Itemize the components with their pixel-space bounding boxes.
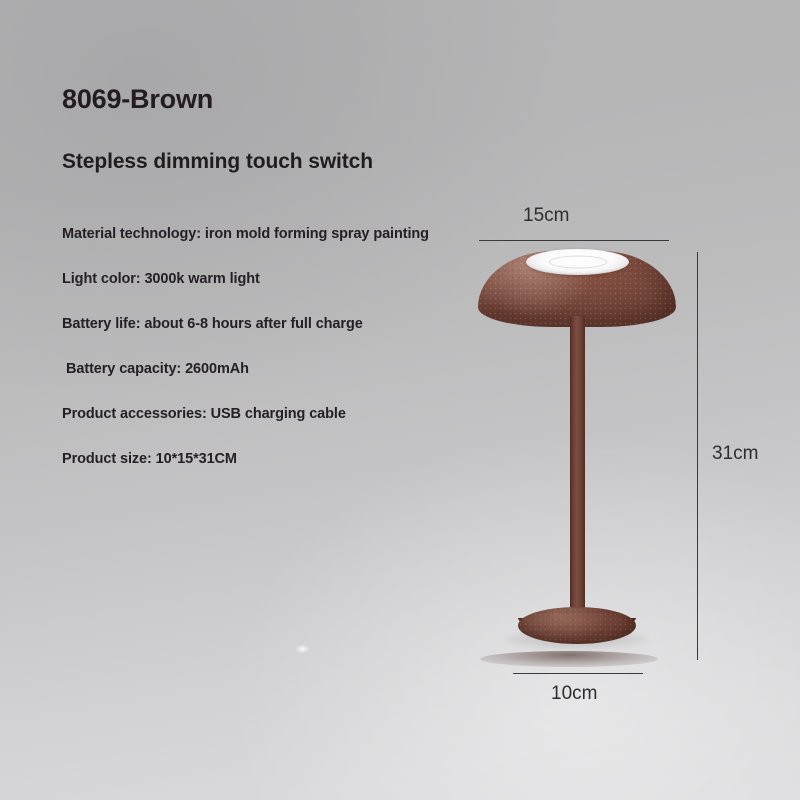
specification-list: Material technology: iron mold forming s… [0, 226, 470, 496]
spec-item-accessories: Product accessories: USB charging cable [0, 406, 470, 451]
lamp-base-disc [518, 607, 636, 644]
lamp-stem [570, 316, 585, 616]
product-subtitle: Stepless dimming touch switch [62, 150, 373, 174]
dimension-line-base-width [513, 673, 643, 674]
spec-item-battery-capacity: Battery capacity: 2600mAh [0, 361, 470, 406]
background-speck [296, 645, 309, 653]
lamp-product-photo [470, 240, 685, 665]
touch-switch-ring [549, 256, 607, 269]
product-spec-card: 8069-Brown Stepless dimming touch switch… [0, 0, 800, 800]
dimension-label-shade-width: 15cm [523, 205, 569, 227]
spec-item-battery-life: Battery life: about 6-8 hours after full… [0, 316, 470, 361]
dimension-label-total-height: 31cm [712, 443, 758, 465]
dimension-line-total-height [697, 252, 698, 660]
shade-bottom-rim-shadow [480, 651, 658, 667]
spec-item-light-color: Light color: 3000k warm light [0, 271, 470, 316]
spec-item-material: Material technology: iron mold forming s… [0, 226, 470, 271]
dimension-label-base-width: 10cm [551, 683, 597, 705]
base-texture-overlay [518, 607, 636, 644]
product-title: 8069-Brown [62, 84, 213, 115]
lamp-diffuser-disc [526, 249, 629, 275]
spec-item-product-size: Product size: 10*15*31CM [0, 451, 470, 496]
